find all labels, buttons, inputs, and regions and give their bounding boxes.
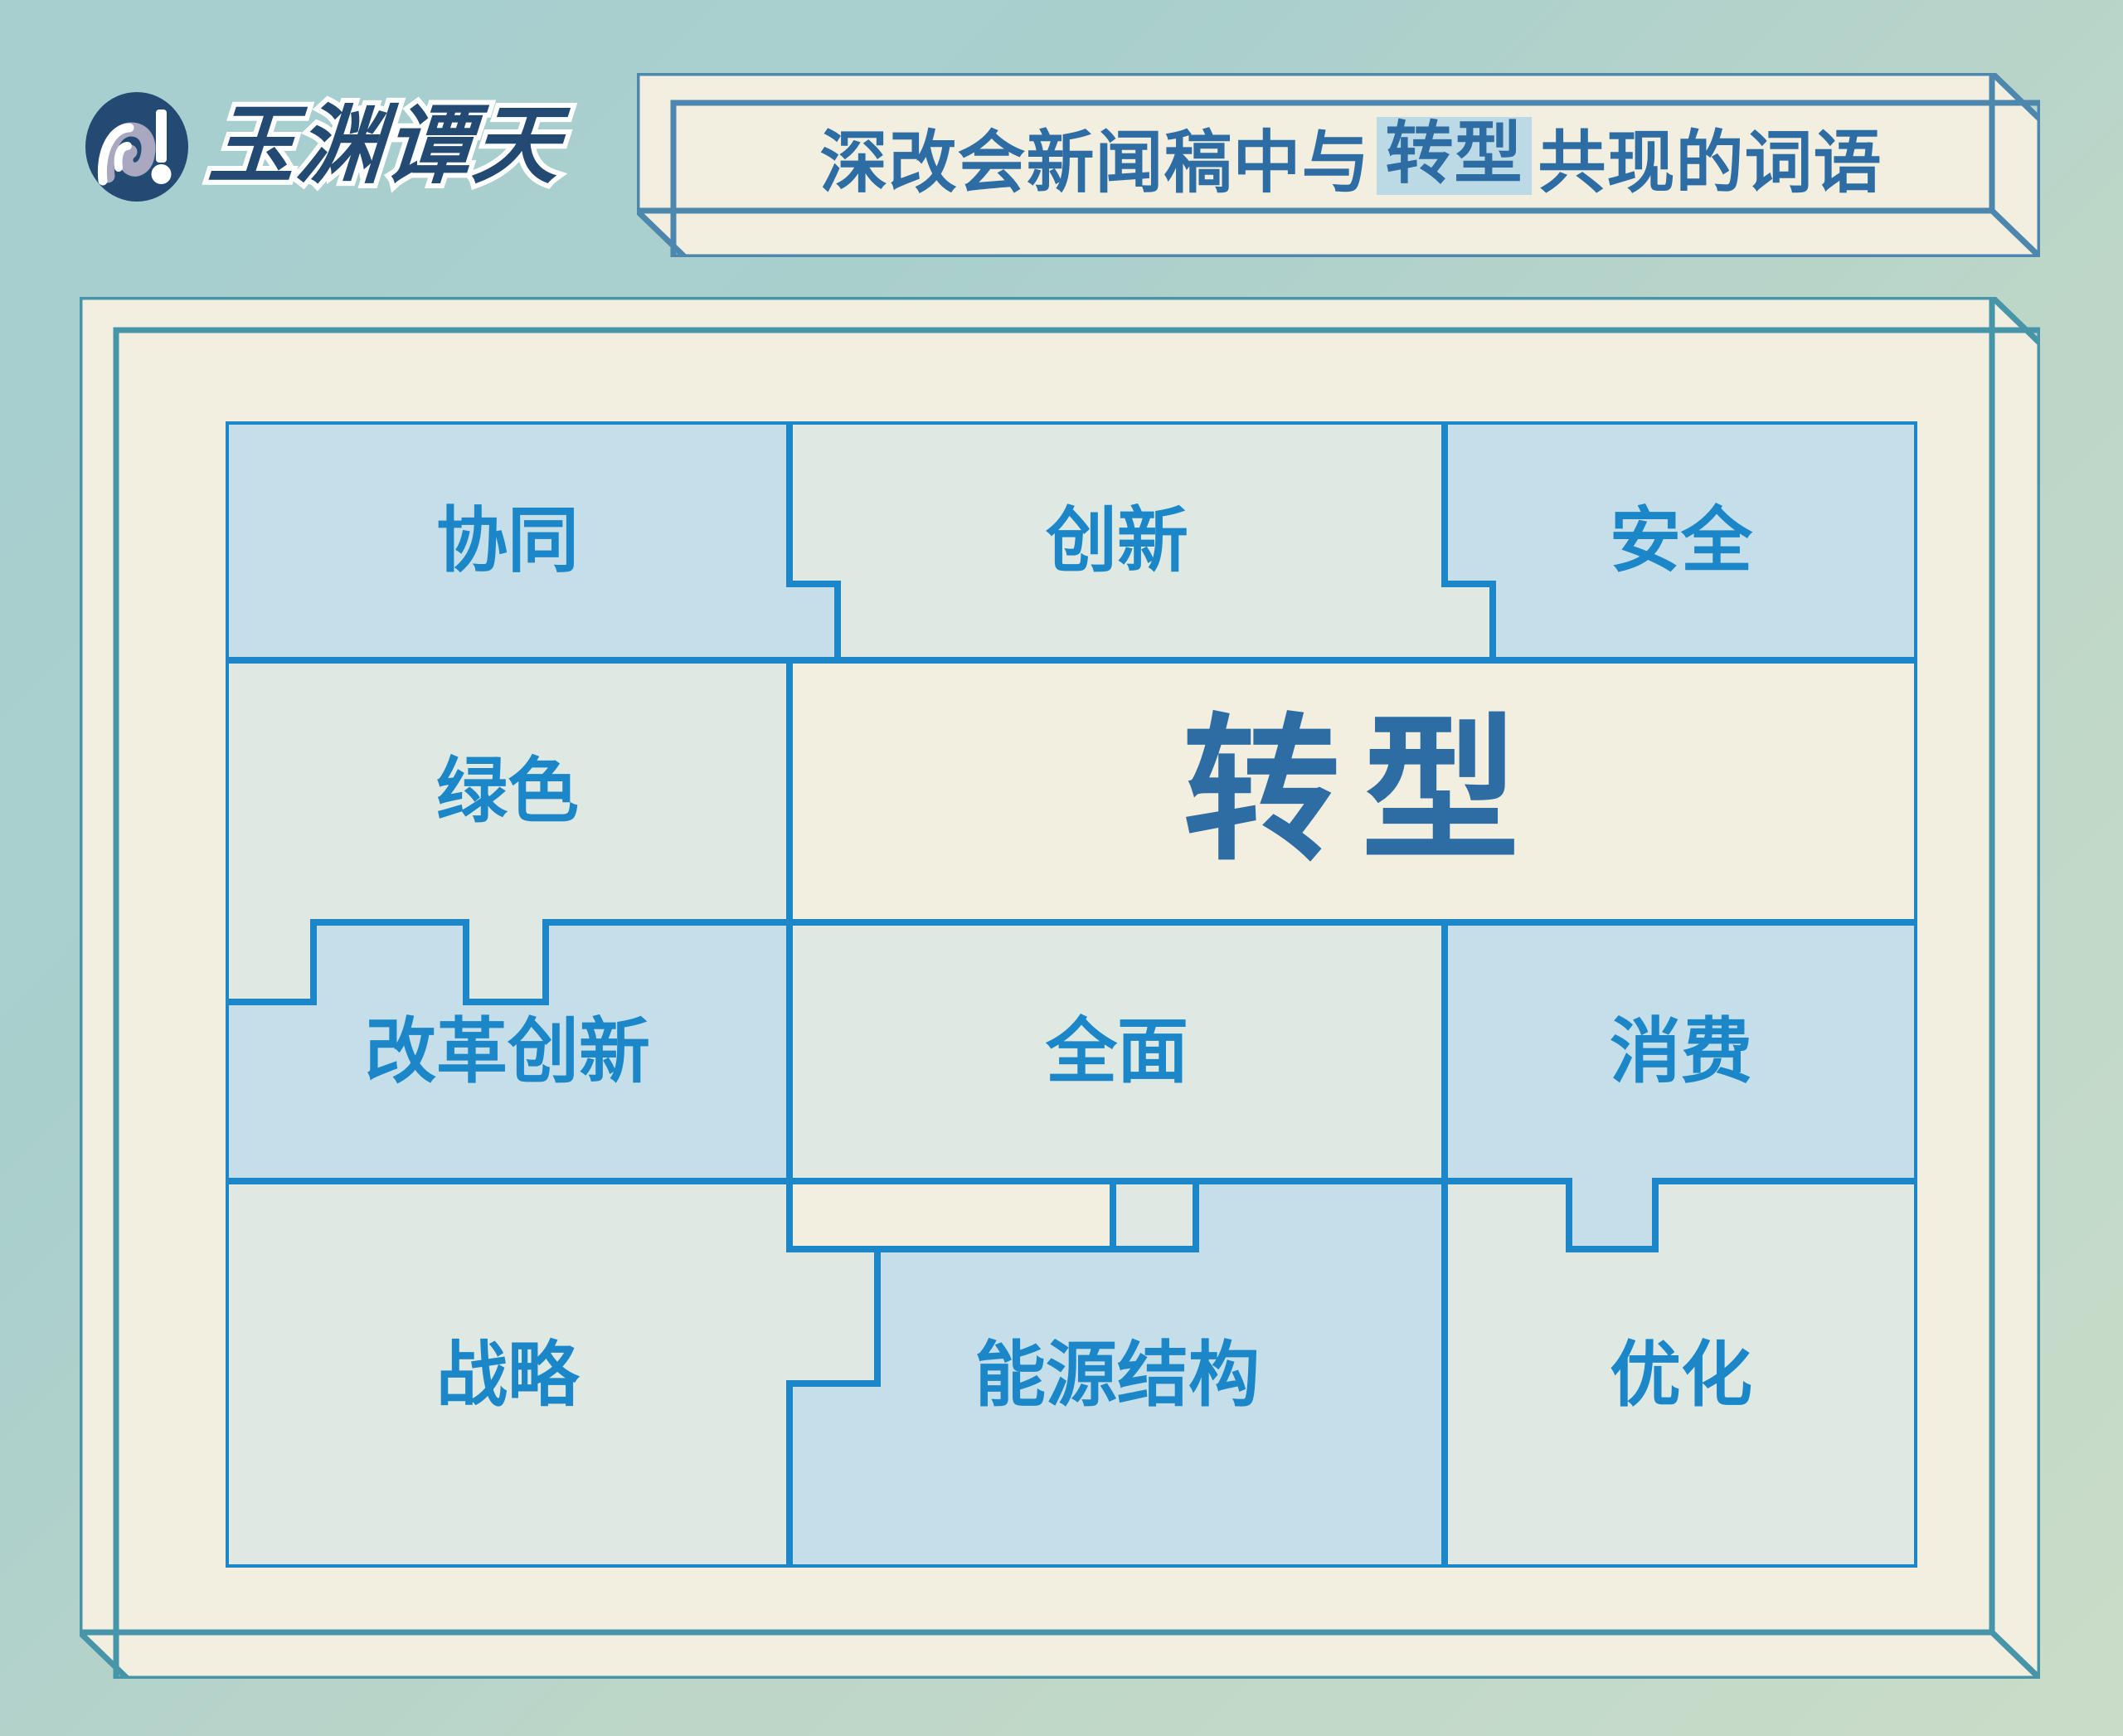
puzzle-cell-label: 消费 bbox=[1610, 1012, 1752, 1092]
yuyuantantian-logo-icon bbox=[80, 90, 194, 204]
puzzle-cell-label: 安全 bbox=[1610, 501, 1753, 581]
puzzle-cell-label: 转型 bbox=[1183, 703, 1541, 879]
puzzle-cell-label: 绿色 bbox=[436, 751, 579, 831]
puzzle-cell-label: 战略 bbox=[436, 1335, 581, 1415]
brand-logo: 玉渊谭天 bbox=[80, 90, 561, 204]
word-cooccurrence-grid: 协同创新安全绿色转型改革创新全面消费战略能源结构优化 bbox=[226, 421, 1917, 1568]
puzzle-cell-label: 协同 bbox=[436, 501, 579, 581]
puzzle-cell-label: 创新 bbox=[1046, 501, 1188, 581]
puzzle-cell-label: 能源结构 bbox=[974, 1335, 1260, 1415]
title-banner: 深改会新闻稿中与 转型 共现的词语 bbox=[637, 73, 2040, 257]
infographic-canvas: 玉渊谭天 深改会新闻稿中与 转型 共现的词语 bbox=[0, 0, 2123, 1736]
puzzle-cell-label: 全面 bbox=[1045, 1012, 1188, 1092]
brand-wordmark: 玉渊谭天 bbox=[206, 104, 563, 190]
puzzle-cell-label: 改革创新 bbox=[365, 1012, 650, 1092]
puzzle-cell-label: 优化 bbox=[1610, 1335, 1752, 1415]
